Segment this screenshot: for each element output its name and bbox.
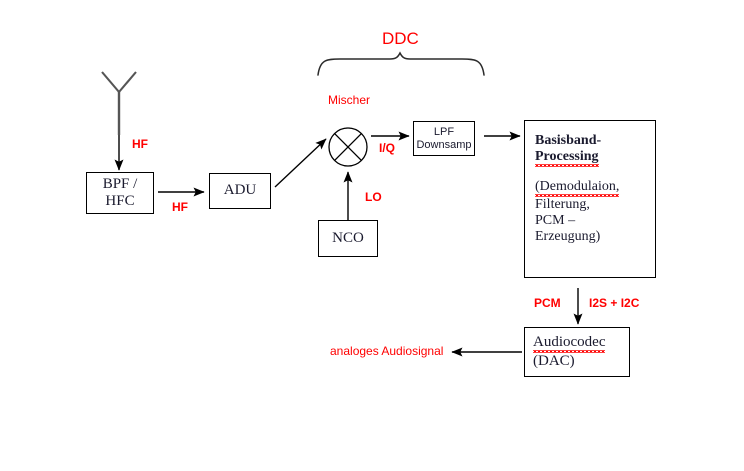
block-baseband-body1: (Demodulaion, [535,179,619,197]
signal-label-bpf-to-adu-hf: HF [172,200,188,214]
block-baseband-spacer [535,167,655,179]
block-audiocodec-line2: (DAC) [533,353,629,370]
signal-label-lo: LO [365,190,382,204]
block-lpf-line2: Downsamp [416,139,471,152]
antenna-icon [102,72,136,135]
diagram-canvas: DDC BPF / HFC ADU Mischer LPF Downsamp N… [0,0,744,471]
block-baseband-body2: Filterung, [535,197,655,213]
signal-label-analog-audio-out: analoges Audiosignal [330,344,443,358]
block-audiocodec[interactable]: Audiocodec (DAC) [524,327,630,377]
signal-label-pcm: PCM [534,296,561,310]
block-baseband-body3: PCM – [535,213,655,229]
block-bpf-hfc-line2: HFC [105,193,134,210]
block-lpf-line1: LPF [434,126,454,139]
block-adu-label: ADU [224,182,257,199]
block-baseband-processing[interactable]: Basisband- Processing (Demodulaion, Filt… [524,120,656,278]
ddc-title: DDC [382,29,419,49]
block-bpf-hfc-line1: BPF / [103,176,138,193]
ddc-brace-icon [318,53,484,75]
block-baseband-body4: Erzeugung) [535,229,655,245]
block-baseband-heading2: Processing [535,149,599,167]
mixer-symbol-icon [329,128,367,166]
signal-label-iq: I/Q [379,141,395,155]
block-nco[interactable]: NCO [318,220,378,257]
signal-label-antenna-hf: HF [132,137,148,151]
block-lpf-downsamp[interactable]: LPF Downsamp [413,121,475,156]
signal-label-i2s-i2c: I2S + I2C [589,296,639,310]
block-audiocodec-line1: Audiocodec [533,334,605,353]
arrow-adu-to-mixer [275,139,326,187]
mixer-label: Mischer [328,93,370,107]
block-adu[interactable]: ADU [209,173,271,209]
block-baseband-heading1: Basisband- [535,133,655,149]
block-bpf-hfc[interactable]: BPF / HFC [86,172,154,214]
block-nco-label: NCO [332,230,364,247]
